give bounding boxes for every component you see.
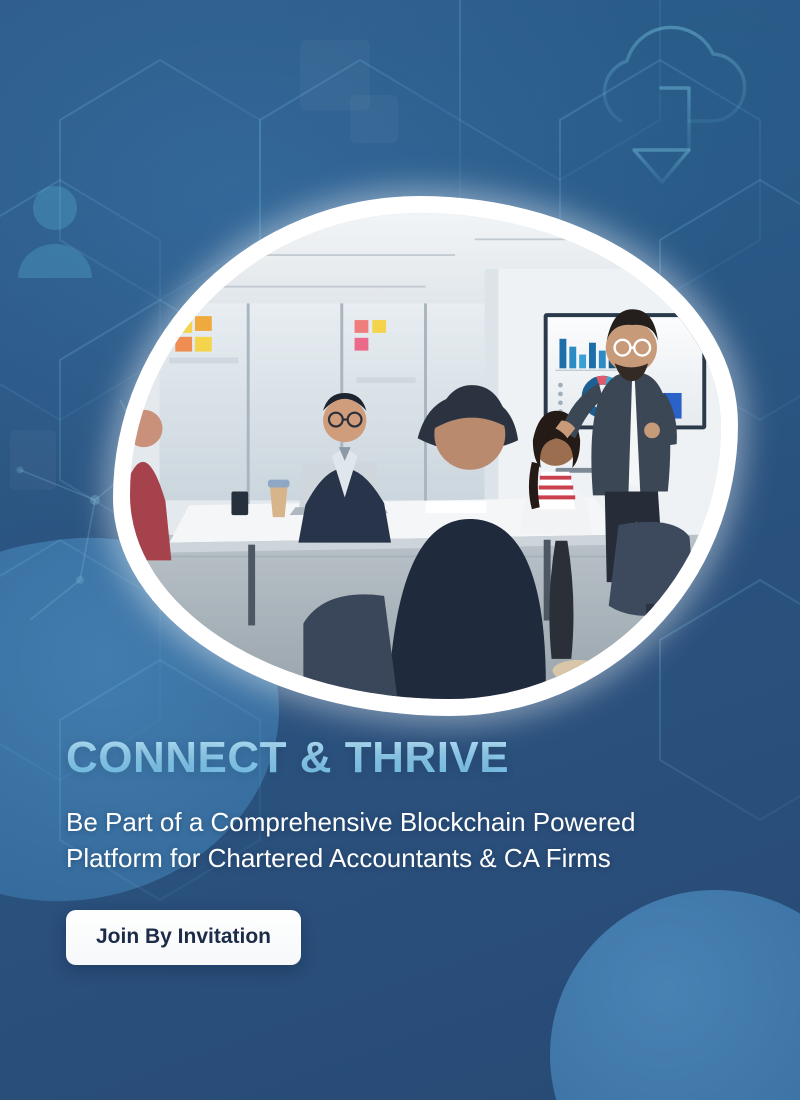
- hero-image-blob: [113, 196, 738, 716]
- page-title: CONNECT & THRIVE: [66, 735, 509, 781]
- join-by-invitation-button[interactable]: Join By Invitation: [66, 910, 301, 965]
- subheadline: Be Part of a Comprehensive Blockchain Po…: [66, 805, 726, 876]
- user-icon: [18, 186, 92, 278]
- promo-banner: CONNECT & THRIVE Be Part of a Comprehens…: [0, 0, 800, 1100]
- text-content: CONNECT & THRIVE Be Part of a Comprehens…: [66, 735, 766, 965]
- cloud-download-icon: [604, 27, 744, 182]
- striped-top: [536, 472, 575, 509]
